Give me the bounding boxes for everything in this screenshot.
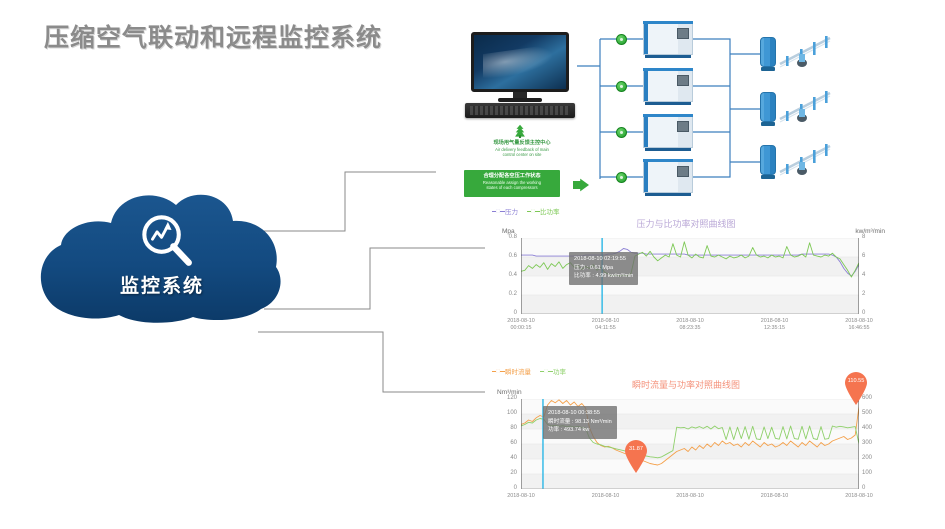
status-node[interactable] — [616, 127, 627, 138]
x-tick-label: 2018-08-1004:11:55 — [582, 318, 630, 332]
y2-tick-label: 500 — [862, 410, 886, 416]
y2-tick-label: 100 — [862, 470, 886, 476]
y2-tick-label: 4 — [862, 272, 886, 278]
y2-tick-label: 8 — [862, 234, 886, 240]
legend-item[interactable]: 瞬时流量 — [492, 366, 531, 376]
tank-cap — [761, 122, 775, 126]
legend-marker-icon — [492, 208, 505, 215]
pin-marker-icon — [843, 371, 869, 405]
legend-item[interactable]: 比功率 — [527, 206, 560, 216]
tank-body — [760, 92, 776, 122]
chart2-max-marker[interactable]: 110.55 — [843, 371, 869, 405]
legend-marker-icon — [540, 368, 553, 375]
legend-marker-icon — [492, 368, 505, 375]
y2-tick-label: 300 — [862, 440, 886, 446]
compressor-panel — [677, 166, 689, 177]
y2-tick-label: 2 — [862, 291, 886, 297]
compressor-panel — [677, 28, 689, 39]
compressor-foot — [645, 148, 691, 151]
legend-label: 压力 — [505, 209, 518, 216]
y-tick-label: 0.6 — [491, 253, 517, 259]
y2-tick-label: 200 — [862, 455, 886, 461]
chart2-min-marker[interactable]: 31.87 — [623, 439, 649, 473]
y2-tick-label: 0 — [862, 310, 886, 316]
arrow-right-icon — [573, 178, 589, 192]
y2-tick-label: 400 — [862, 425, 886, 431]
magnifier-chart-icon — [138, 211, 196, 269]
compressor-top — [643, 159, 693, 162]
compressor-unit — [643, 21, 693, 57]
y-tick-label: 40 — [491, 455, 517, 461]
legend-label: 瞬时流量 — [505, 369, 531, 376]
chart1-legend: 压力比功率 — [492, 206, 569, 216]
y-tick-label: 0 — [491, 485, 517, 491]
pressure-power-chart: 压力比功率 压力与比功率对照曲线图 Mpa kw/m³/min 00.20.40… — [485, 202, 887, 335]
control-center-caption: 现场用气量反馈主控中心 Air delivery feedback of mai… — [462, 140, 582, 157]
pipe-network-icon — [778, 87, 834, 125]
y-tick-label: 0.8 — [491, 234, 517, 240]
page-title: 压缩空气联动和远程监控系统 — [44, 18, 382, 54]
keyboard-icon — [465, 103, 575, 118]
x-tick-label: 2018-08-10 — [582, 493, 630, 500]
compressor-foot — [645, 193, 691, 196]
desktop-monitor-icon — [465, 32, 575, 120]
compressor-top — [643, 114, 693, 117]
topology-diagram: 现场用气量反馈主控中心 Air delivery feedback of mai… — [440, 24, 945, 200]
monitor-screen — [471, 32, 569, 92]
caption-en-2: control center on site — [462, 152, 582, 157]
chart1-title: 压力与比功率对照曲线图 — [485, 217, 887, 230]
status-node[interactable] — [616, 172, 627, 183]
compressor-unit — [643, 159, 693, 195]
marker-value: 110.55 — [843, 378, 869, 384]
x-tick-label: 2018-08-1016:46:55 — [835, 318, 883, 332]
compressor-panel — [677, 75, 689, 86]
air-tank-icon — [760, 37, 776, 71]
legend-label: 功率 — [553, 369, 566, 376]
marker-value: 31.87 — [623, 446, 649, 452]
green-box-en-2: states of each compressors — [464, 185, 560, 190]
air-tank-icon — [760, 145, 776, 179]
y-tick-label: 80 — [491, 425, 517, 431]
tank-body — [760, 37, 776, 67]
chart1-tooltip: 2018-08-10 02:19:55压力 : 0.61 Mpa比功率 : 4.… — [569, 252, 638, 285]
y-tick-label: 20 — [491, 470, 517, 476]
compressor-foot — [645, 102, 691, 105]
legend-label: 比功率 — [540, 209, 560, 216]
y-tick-label: 0 — [491, 310, 517, 316]
monitoring-cloud[interactable]: 监控系统 — [33, 183, 291, 326]
arrow-up-icon — [513, 124, 527, 138]
legend-item[interactable]: 压力 — [492, 206, 518, 216]
pipe-network-icon — [778, 32, 834, 70]
x-tick-label: 2018-08-1012:35:15 — [751, 318, 799, 332]
y-tick-label: 0.4 — [491, 272, 517, 278]
tank-body — [760, 145, 776, 175]
tank-cap — [761, 67, 775, 71]
y-tick-label: 100 — [491, 410, 517, 416]
chart2-tooltip: 2018-08-10 00:38:55瞬时流量 : 98.13 Nm³/min功… — [543, 406, 617, 439]
compressor-top — [643, 68, 693, 71]
compressor-top — [643, 21, 693, 24]
compressor-unit — [643, 68, 693, 104]
tank-cap — [761, 175, 775, 179]
green-status-box: 合理分配各空压工作状态 Reasonable assign the workin… — [464, 170, 560, 197]
y-tick-label: 120 — [491, 395, 517, 401]
compressor-panel — [677, 121, 689, 132]
flow-power-chart: 瞬时流量功率 瞬时流量与功率对照曲线图 Nm³/min 020406080100… — [485, 362, 887, 529]
legend-item[interactable]: 功率 — [540, 366, 566, 376]
monitor-base — [498, 98, 542, 102]
x-tick-label: 2018-08-1008:23:35 — [666, 318, 714, 332]
pipe-network-icon — [778, 140, 834, 178]
y-tick-label: 60 — [491, 440, 517, 446]
y2-tick-label: 0 — [862, 485, 886, 491]
y-tick-label: 0.2 — [491, 291, 517, 297]
x-tick-label: 2018-08-10 — [497, 493, 545, 500]
chart2-legend: 瞬时流量功率 — [492, 366, 575, 376]
x-tick-label: 2018-08-1000:00:15 — [497, 318, 545, 332]
pin-marker-icon — [623, 439, 649, 473]
cloud-label: 监控系统 — [33, 271, 291, 298]
air-tank-icon — [760, 92, 776, 126]
legend-marker-icon — [527, 208, 540, 215]
compressor-foot — [645, 55, 691, 58]
y2-tick-label: 6 — [862, 253, 886, 259]
x-tick-label: 2018-08-10 — [835, 493, 883, 500]
status-node[interactable] — [616, 34, 627, 45]
status-node[interactable] — [616, 81, 627, 92]
compressor-unit — [643, 114, 693, 150]
chart2-title: 瞬时流量与功率对照曲线图 — [485, 378, 887, 391]
x-tick-label: 2018-08-10 — [666, 493, 714, 500]
slide-root: 压缩空气联动和远程监控系统 监控系统 — [0, 0, 945, 529]
x-tick-label: 2018-08-10 — [751, 493, 799, 500]
